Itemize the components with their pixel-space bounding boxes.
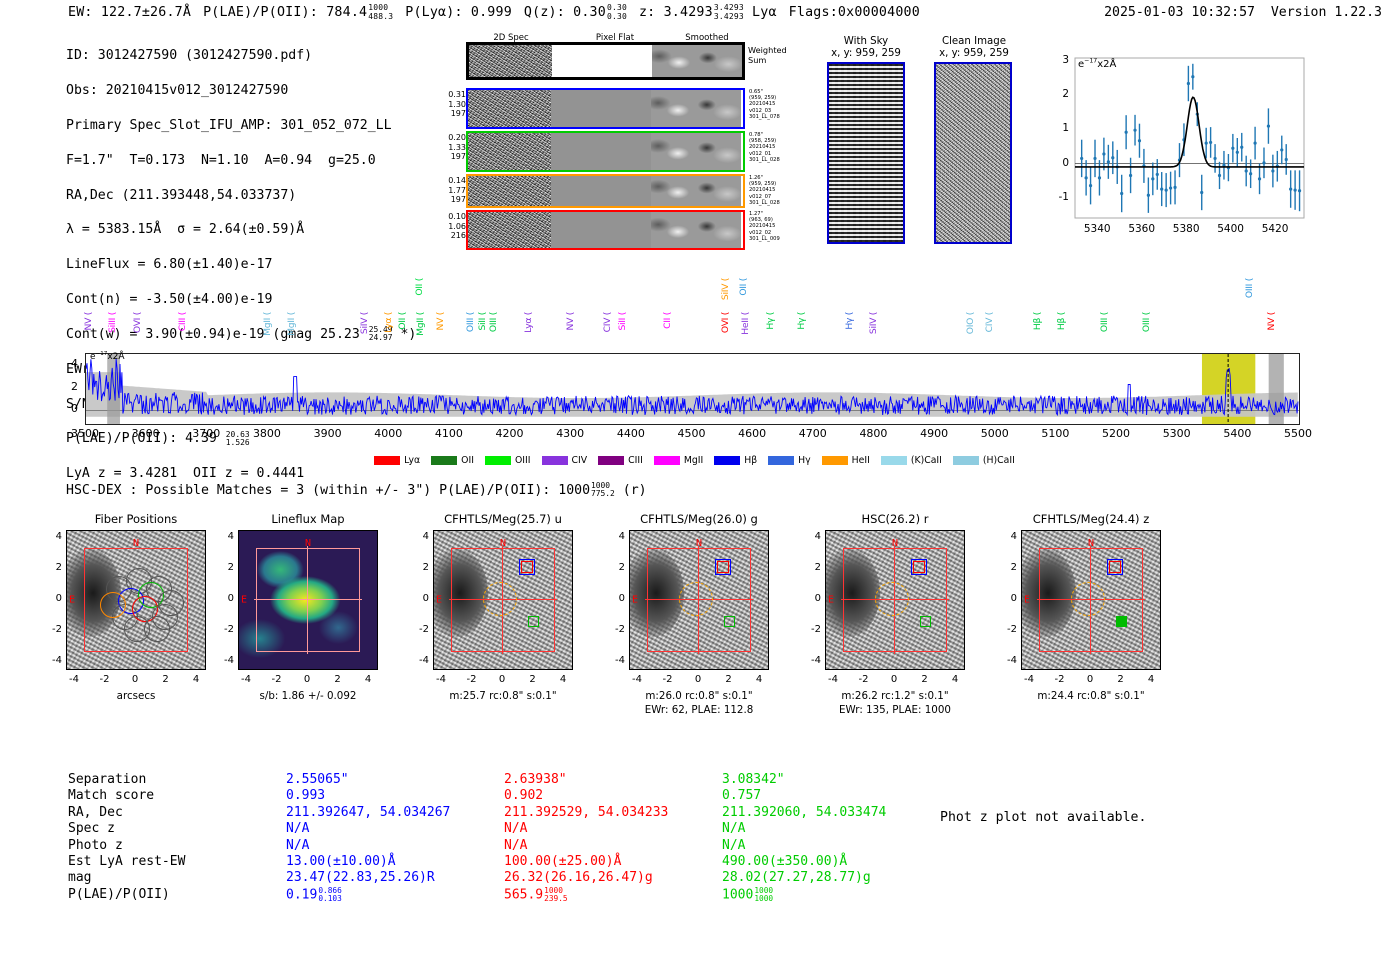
emission-xtick: 5360	[1124, 223, 1160, 235]
spectrum-line-label-12: OIII (	[465, 312, 476, 332]
spectrum-xtick: 3600	[122, 427, 170, 440]
cutout-ytick: 2	[40, 562, 62, 573]
cleanimage-title: Clean Image	[922, 36, 1026, 48]
spectrum-line-label-5: MgII (	[286, 312, 297, 336]
spec2d-row-1-fiber-info: 0.65" (959, 259) 20210415 v012_03 301_LL…	[749, 89, 780, 120]
spectrum-xtick: 4200	[486, 427, 534, 440]
legend-label: (H)CaII	[983, 455, 1015, 466]
emission-xtick: 5380	[1168, 223, 1204, 235]
match-col-1-separation: 2.63938"	[504, 772, 567, 788]
cleanimage-coords: x, y: 959, 259	[922, 48, 1026, 60]
legend-label: MgII	[684, 455, 703, 466]
legend-item-HeII: HeII	[822, 455, 870, 466]
emission-line-svg	[1035, 48, 1310, 248]
cutout-xtick: -4	[625, 674, 649, 685]
cutout-ytick: -2	[407, 624, 429, 635]
spectrum-flux-annotation: e−17x2Å	[90, 352, 125, 362]
cutout-xtick: -4	[821, 674, 845, 685]
spectrum-line-label-8: OII (	[397, 312, 408, 330]
spectrum-y-ticks: 024	[60, 348, 82, 428]
legend-item-CIII: CIII	[598, 455, 643, 466]
match-col-2-spec_z: N/A	[722, 821, 745, 837]
match-row-label-6: mag	[68, 870, 91, 886]
spectrum-xtick: 5100	[1031, 427, 1079, 440]
cutout-image-img-2[interactable]	[433, 530, 573, 670]
spectrum-xtick: 4700	[789, 427, 837, 440]
legend-label: Lyα	[404, 455, 420, 466]
cutout-xtick: 0	[123, 674, 147, 685]
legend-item-OII: OII	[431, 455, 474, 466]
cutout-ytick: 0	[212, 593, 234, 604]
cutout-ytick: 4	[212, 531, 234, 542]
cutout-ytick: 4	[40, 531, 62, 542]
hsc-dex-prefix: HSC-DEX : Possible Matches = 3 (within +…	[66, 483, 590, 498]
legend-item-HCaII: (H)CaII	[953, 455, 1015, 466]
galaxy-blob	[825, 549, 880, 637]
header-plae-label: P(LAE)/P(OII):	[203, 5, 318, 20]
spectrum-line-label-21: OII (	[738, 278, 749, 296]
spectrum-line-label-20: SiIV (	[720, 278, 731, 300]
cutout-xtick: -2	[1048, 674, 1072, 685]
spec2d-fiber-row-4	[466, 210, 745, 250]
match-col-1-match_score: 0.902	[504, 788, 543, 804]
cutout-ytick: -4	[995, 655, 1017, 666]
legend-label: Hβ	[744, 455, 757, 466]
spectrum-xtick: 4100	[425, 427, 473, 440]
spec2d-row-1-pixelflat	[551, 90, 651, 127]
withsky-coords: x, y: 959, 259	[818, 48, 914, 60]
cleanimage-image	[934, 62, 1012, 244]
cutout-xtick: -2	[656, 674, 680, 685]
cutout-xtick: 4	[184, 674, 208, 685]
spec2d-row-1-metrics: 0.31 1.30 197	[440, 90, 466, 119]
hsc-plae-lo: 775.2	[591, 489, 615, 498]
spectrum-line-label-30: Hβ (	[1032, 312, 1043, 330]
galaxy-blob	[433, 549, 488, 637]
header-version: Version 1.22.3	[1271, 5, 1382, 20]
spec2d-row-1-smoothed	[651, 90, 741, 127]
cutout-title-0: Fiber Positions	[52, 512, 220, 526]
cutout-xtick: 4	[356, 674, 380, 685]
match-col-1-photo_z: N/A	[504, 838, 527, 854]
legend-label: Hγ	[798, 455, 811, 466]
legend-swatch	[881, 456, 907, 465]
match-col-1-spec_z: N/A	[504, 821, 527, 837]
withsky-header: With Sky x, y: 959, 259	[818, 36, 914, 60]
match-row-label-5: Est LyA rest-EW	[68, 854, 185, 870]
spectrum-xtick: 4300	[546, 427, 594, 440]
match-col-0-photo_z: N/A	[286, 838, 309, 854]
match-col-0-est_lya_ew: 13.00(±10.00)Å	[286, 854, 396, 870]
spec2d-row-3-smoothed	[651, 176, 741, 206]
spec2d-row-2-pixelflat	[551, 133, 651, 170]
spec2d-weighted-sum-row	[466, 42, 745, 80]
spectrum-line-label-31: Hβ (	[1056, 312, 1067, 330]
cutout-ytick: -4	[212, 655, 234, 666]
spectrum-line-label-7: Lyα (	[383, 312, 394, 333]
emission-ytick: 0	[1053, 157, 1069, 169]
cutout-xtick: 0	[490, 674, 514, 685]
legend-swatch	[714, 456, 740, 465]
cutout-caption-4: m:26.2 rc:1.2" s:0.1"	[795, 690, 995, 702]
full-spectrum-plot	[85, 353, 1300, 425]
spec2d-row-4-fiber-info: 1.27" (963, 69) 20210415 v012_02 301_LL_…	[749, 211, 780, 242]
spec2d-row-4-2dspec	[468, 212, 551, 248]
legend-item-Lyα: Lyα	[374, 455, 420, 466]
legend-label: (K)CaII	[911, 455, 942, 466]
legend-item-CIV: CIV	[542, 455, 588, 466]
legend-swatch	[654, 456, 680, 465]
cutout-ytick: 0	[799, 593, 821, 604]
cutout-ytick: -2	[799, 624, 821, 635]
cutout-ytick: -4	[603, 655, 625, 666]
info-lineflux: LineFlux = 6.80(±1.40)e-17	[66, 256, 416, 273]
cutout-ytick: 4	[603, 531, 625, 542]
info-id: ID: 3012427590 (3012427590.pdf)	[66, 47, 416, 64]
cutout-ytick: -2	[995, 624, 1017, 635]
spectrum-ytick: 2	[60, 380, 78, 393]
spectrum-xtick: 3700	[182, 427, 230, 440]
cutout-xtick: -4	[429, 674, 453, 685]
header-date-version: 2025-01-03 10:32:57 Version 1.22.3	[1104, 5, 1382, 20]
cutout-xtick: 0	[686, 674, 710, 685]
cutout-caption-3: m:26.0 rc:0.8" s:0.1"	[599, 690, 799, 702]
match-col-2-mag: 28.02(27.27,28.77)g	[722, 870, 871, 886]
cutout-xtick: -2	[852, 674, 876, 685]
match-col-0-separation: 2.55065"	[286, 772, 349, 788]
spec2d-row-4-metrics: 0.10 1.06 216	[440, 212, 466, 241]
spectrum-line-label-16: NV (	[565, 312, 576, 330]
cutout-caption2-3: EWr: 62, PLAE: 112.8	[599, 704, 799, 716]
spectrum-line-label-6: SiIV (	[359, 312, 370, 334]
cutout-image-img-3[interactable]	[629, 530, 769, 670]
cutout-title-4: HSC(26.2) r	[811, 512, 979, 526]
legend-label: CIII	[628, 455, 643, 466]
spectrum-ytick: 0	[60, 402, 78, 415]
spec2d-row-2-smoothed	[651, 133, 741, 170]
cutout-caption2-4: EWr: 135, PLAE: 1000	[795, 704, 995, 716]
cutout-ytick: -4	[40, 655, 62, 666]
spec2d-fiber-row-1	[466, 88, 745, 129]
info-seeing-params: F=1.7" T=0.173 N=1.10 A=0.94 g=25.0	[66, 152, 416, 169]
emission-ytick: 1	[1053, 122, 1069, 134]
cutout-ytick: 4	[995, 531, 1017, 542]
cutout-xtick: 2	[1109, 674, 1133, 685]
spectrum-masked-region	[1269, 354, 1284, 424]
emission-flux-annotation: e−17x2Å	[1078, 59, 1116, 70]
cutout-xtick: -4	[234, 674, 258, 685]
full-spectrum-svg	[86, 354, 1299, 424]
cutout-ytick: 2	[212, 562, 234, 573]
hsc-dex-suffix: (r)	[623, 483, 647, 498]
match-col-1-est_lya_ew: 100.00(±25.00)Å	[504, 854, 621, 870]
match-col-0-spec_z: N/A	[286, 821, 309, 837]
cutout-ytick: 0	[40, 593, 62, 604]
cutout-xtick: 2	[717, 674, 741, 685]
plae-lo: 1000	[754, 894, 773, 903]
cutout-ytick: 0	[603, 593, 625, 604]
match-row-label-7: P(LAE)/P(OII)	[68, 887, 170, 903]
cutout-ytick: 2	[603, 562, 625, 573]
photz-note: Phot z plot not available.	[940, 810, 1146, 825]
spectrum-line-label-35: NV (	[1266, 312, 1277, 330]
spectrum-legend: LyαOIIOIIICIVCIIIMgIIHβHγHeII(K)CaII(H)C…	[0, 455, 1400, 466]
spectrum-line-label-27: SiIV (	[868, 312, 879, 334]
header-qz: Q(z): 0.30	[524, 5, 606, 20]
match-col-1-mag: 26.32(26.16,26.47)g	[504, 870, 653, 886]
spec2d-fiber-row-2	[466, 131, 745, 172]
header-datetime: 2025-01-03 10:32:57	[1104, 5, 1255, 20]
spectrum-xtick: 3800	[243, 427, 291, 440]
legend-swatch	[542, 456, 568, 465]
spec2d-pixelflat-image	[552, 45, 652, 77]
cutout-ytick: -4	[799, 655, 821, 666]
legend-swatch	[374, 456, 400, 465]
spec2d-row-3-fiber-info: 1.26" (959, 259) 20210415 v012_07 301_LL…	[749, 175, 780, 206]
match-col-2-separation: 3.08342"	[722, 772, 785, 788]
withsky-title: With Sky	[818, 36, 914, 48]
cutout-xtick: -2	[460, 674, 484, 685]
spec2d-row-1-2dspec	[468, 90, 551, 127]
spec2d-row-4-smoothed	[651, 212, 741, 248]
cutout-image-heat-1[interactable]	[238, 530, 378, 670]
spec2d-row-2-fiber-info: 0.78" (958, 259) 20210415 v012_01 301_LL…	[749, 132, 780, 163]
cutout-caption-1: s/b: 1.86 +/- 0.092	[208, 690, 408, 702]
cutout-title-3: CFHTLS/Meg(26.0) g	[615, 512, 783, 526]
spectrum-xtick: 5000	[971, 427, 1019, 440]
withsky-image	[827, 62, 905, 244]
legend-label: OII	[461, 455, 474, 466]
cutout-title-2: CFHTLS/Meg(25.7) u	[419, 512, 587, 526]
match-col-0-plae: 0.190.8660.103	[286, 887, 342, 904]
cutout-caption-5: m:24.4 rc:0.8" s:0.1"	[991, 690, 1191, 702]
spectrum-xtick: 5300	[1153, 427, 1201, 440]
legend-item-KCaII: (K)CaII	[881, 455, 942, 466]
spectrum-line-label-4: MgII (	[262, 312, 273, 336]
legend-swatch	[485, 456, 511, 465]
header-flags: Flags:0x00004000	[789, 5, 920, 20]
info-obs: Obs: 20210415v012_3012427590	[66, 82, 416, 99]
legend-swatch	[822, 456, 848, 465]
cleanimage-header: Clean Image x, y: 959, 259	[922, 36, 1026, 60]
header-plya: P(Lyα): 0.999	[405, 5, 512, 20]
spec2d-weighted-sum-label: Weighted Sum	[748, 46, 787, 65]
spectrum-line-labels: NV (SiIII (OVI (CIII (MgII (MgII (SiIV (…	[85, 278, 1300, 353]
header-plae-lo: 488.3	[368, 12, 393, 21]
header-z-lo: 3.4293	[714, 12, 744, 21]
header-ew: EW: 122.7±26.7Å	[68, 5, 191, 20]
spectrum-xtick: 3500	[61, 427, 109, 440]
spectrum-line-label-15: Lyα (	[523, 312, 534, 333]
spectrum-line-label-26: Hγ (	[844, 312, 855, 330]
spectrum-line-label-33: OIII (	[1141, 312, 1152, 332]
spectrum-xtick: 4000	[364, 427, 412, 440]
plae-lo: 239.5	[544, 894, 567, 903]
spectrum-line-label-34: OIII (	[1244, 278, 1255, 298]
cutout-xtick: 4	[747, 674, 771, 685]
spectrum-ytick: 4	[60, 357, 78, 370]
match-row-label-2: RA, Dec	[68, 805, 123, 821]
legend-item-Hβ: Hβ	[714, 455, 757, 466]
spectrum-line-label-25: Hγ (	[796, 312, 807, 330]
cutout-caption-2: m:25.7 rc:0.8" s:0.1"	[403, 690, 603, 702]
cutout-title-5: CFHTLS/Meg(24.4) z	[1007, 512, 1175, 526]
spectrum-xtick: 4400	[607, 427, 655, 440]
match-col-1-plae: 565.91000239.5	[504, 887, 568, 904]
match-col-0-match_score: 0.993	[286, 788, 325, 804]
spectrum-line-label-23: HeII (	[740, 312, 751, 335]
cutout-image-fiber-0[interactable]	[66, 530, 206, 670]
cutout-ytick: -2	[603, 624, 625, 635]
spectrum-xtick: 4600	[728, 427, 776, 440]
spectrum-line-label-18: SiII (	[617, 312, 628, 331]
header-plae-value: 784.4	[326, 5, 367, 20]
emission-xtick: 5400	[1213, 223, 1249, 235]
match-col-2-plae: 100010001000	[722, 887, 773, 904]
cutout-xtick: 0	[1078, 674, 1102, 685]
spectrum-line-label-32: OIII (	[1099, 312, 1110, 332]
cutout-ytick: -2	[40, 624, 62, 635]
legend-item-MgII: MgII	[654, 455, 703, 466]
spec2d-row-2-metrics: 0.20 1.33 197	[440, 133, 466, 162]
info-primary-slot: Primary Spec_Slot_IFU_AMP: 301_052_072_L…	[66, 117, 416, 134]
match-col-2-match_score: 0.757	[722, 788, 761, 804]
hsc-dex-matches-line: HSC-DEX : Possible Matches = 3 (within +…	[66, 482, 647, 498]
spectrum-x-ticks: 3500360037003800390040004100420043004400…	[85, 427, 1300, 443]
legend-item-OIII: OIII	[485, 455, 531, 466]
spectrum-line-label-19: CII (	[662, 312, 673, 329]
emission-ytick: -1	[1053, 191, 1069, 203]
spectrum-line-label-29: CIV (	[984, 312, 995, 332]
spectrum-line-label-3: CIII (	[177, 312, 188, 331]
spec2d-row-3-metrics: 0.14 1.77 197	[440, 176, 466, 205]
spectrum-line-label-10: MgII (	[415, 312, 426, 336]
spectrum-line-label-9: OII (	[414, 278, 425, 296]
header-qz-lo: 0.30	[607, 12, 627, 21]
cutout-xtick: 2	[521, 674, 545, 685]
galaxy-blob	[66, 549, 121, 637]
cutout-ytick: -2	[212, 624, 234, 635]
cutout-xtick: -2	[93, 674, 117, 685]
legend-swatch	[768, 456, 794, 465]
emission-xtick: 5340	[1079, 223, 1115, 235]
cutout-ytick: 0	[407, 593, 429, 604]
spec2d-row-4-pixelflat	[551, 212, 651, 248]
spec2d-fiber-row-3	[466, 174, 745, 208]
cutout-xtick: -4	[1017, 674, 1041, 685]
header-z: z: 3.4293	[639, 5, 713, 20]
match-col-0-mag: 23.47(22.83,25.26)R	[286, 870, 435, 886]
spectrum-line-label-1: SiIII (	[107, 312, 118, 333]
spectrum-xtick: 5400	[1213, 427, 1261, 440]
cutout-image-img-5[interactable]	[1021, 530, 1161, 670]
plae-lo: 0.103	[318, 894, 341, 903]
spec2d-smoothed-image	[652, 45, 742, 77]
emission-ytick: 2	[1053, 88, 1069, 100]
spectrum-xtick: 4900	[910, 427, 958, 440]
info-radec: RA,Dec (211.393448,54.033737)	[66, 187, 416, 204]
cutout-xtick: 4	[1139, 674, 1163, 685]
match-col-1-radec: 211.392529, 54.034233	[504, 805, 668, 821]
cutout-xtick: 2	[154, 674, 178, 685]
legend-label: HeII	[852, 455, 870, 466]
legend-swatch	[953, 456, 979, 465]
cutout-xtick: 2	[913, 674, 937, 685]
cutout-ytick: 2	[799, 562, 821, 573]
cutout-xtick: 0	[295, 674, 319, 685]
legend-label: CIV	[572, 455, 588, 466]
match-row-label-4: Photo z	[68, 838, 123, 854]
info-redshifts: LyA z = 3.4281 OII z = 0.4441	[66, 465, 416, 482]
spectrum-xtick: 4800	[849, 427, 897, 440]
match-col-2-photo_z: N/A	[722, 838, 745, 854]
spectrum-xtick: 5500	[1274, 427, 1322, 440]
emission-line-plot: 53405360538054005420-10123e−17x2Å	[1035, 48, 1310, 248]
plae-value: 0.19	[286, 887, 317, 902]
plae-value: 565.9	[504, 887, 543, 902]
spec2d-2dspec-image	[469, 45, 552, 77]
spectrum-line-label-14: OIII (	[488, 312, 499, 332]
legend-swatch	[598, 456, 624, 465]
cutout-xtick: 4	[943, 674, 967, 685]
galaxy-blob	[1021, 549, 1076, 637]
cutout-caption-0: arcsecs	[36, 690, 236, 702]
spectrum-line-label-13: SiII (	[477, 312, 488, 331]
match-row-label-3: Spec z	[68, 821, 115, 837]
emission-ytick: 3	[1053, 54, 1069, 66]
spectrum-line-label-22: OVI (	[720, 312, 731, 333]
cutout-image-img-4[interactable]	[825, 530, 965, 670]
match-col-2-est_lya_ew: 490.00(±350.00)Å	[722, 854, 847, 870]
spectrum-line-label-28: OIO (	[965, 312, 976, 334]
spectrum-xtick: 4500	[668, 427, 716, 440]
legend-item-Hγ: Hγ	[768, 455, 811, 466]
match-row-label-0: Separation	[68, 772, 146, 788]
spectrum-line-label-17: CIV (	[602, 312, 613, 332]
spec2d-row-2-2dspec	[468, 133, 551, 170]
cutout-xtick: 4	[551, 674, 575, 685]
cutout-ytick: 4	[799, 531, 821, 542]
match-col-2-radec: 211.392060, 54.033474	[722, 805, 886, 821]
cutout-xtick: -4	[62, 674, 86, 685]
cutout-xtick: -2	[265, 674, 289, 685]
cutout-ytick: -4	[407, 655, 429, 666]
spectrum-line-label-0: NV (	[83, 312, 94, 330]
spec2d-row-3-pixelflat	[551, 176, 651, 206]
match-row-label-1: Match score	[68, 788, 154, 804]
legend-swatch	[431, 456, 457, 465]
emission-xtick: 5420	[1257, 223, 1293, 235]
spectrum-xtick: 5200	[1092, 427, 1140, 440]
spectrum-line-label-24: Hγ (	[765, 312, 776, 330]
cutout-ytick: 4	[407, 531, 429, 542]
spec2d-row-3-2dspec	[468, 176, 551, 206]
header-z-line: Lyα	[752, 5, 777, 20]
spectrum-line-label-2: OVI (	[132, 312, 143, 333]
header-summary-line: EW: 122.7±26.7ÅP(LAE)/P(OII): 784.410004…	[68, 4, 920, 20]
cutout-title-1: Lineflux Map	[224, 512, 392, 526]
spectrum-line-label-11: NV (	[435, 312, 446, 330]
cutout-ytick: 2	[407, 562, 429, 573]
cutout-ytick: 0	[995, 593, 1017, 604]
match-col-0-radec: 211.392647, 54.034267	[286, 805, 450, 821]
cutout-xtick: 0	[882, 674, 906, 685]
info-wavelength: λ = 5383.15Å σ = 2.64(±0.59)Å	[66, 221, 416, 238]
plae-value: 1000	[722, 887, 753, 902]
cutout-ytick: 2	[995, 562, 1017, 573]
cutout-xtick: 2	[326, 674, 350, 685]
galaxy-blob	[629, 549, 684, 637]
